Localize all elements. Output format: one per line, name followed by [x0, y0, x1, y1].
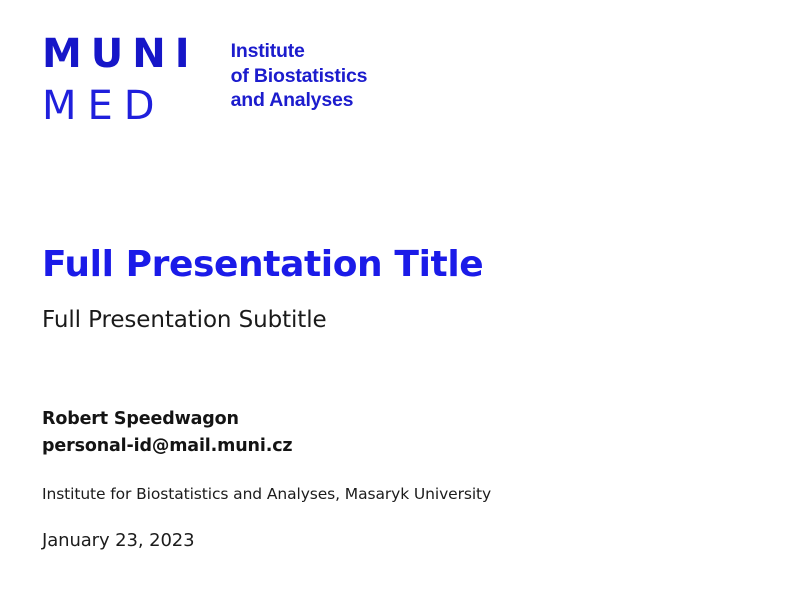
presentation-title: Full Presentation Title — [42, 245, 483, 285]
author-name: Robert Speedwagon — [42, 406, 292, 433]
muni-med-logo: MUNI MED Institute of Biostatistics and … — [42, 34, 367, 130]
author-email: personal-id@mail.muni.cz — [42, 433, 292, 460]
logo-wordmark: MUNI MED — [42, 34, 199, 130]
presentation-date: January 23, 2023 — [42, 529, 195, 552]
title-slide: MUNI MED Institute of Biostatistics and … — [0, 0, 794, 596]
logo-wordmark-med: MED — [42, 83, 199, 130]
logo-institute-name: Institute of Biostatistics and Analyses — [231, 39, 368, 113]
presentation-subtitle: Full Presentation Subtitle — [42, 307, 327, 335]
logo-institute-line-1: Institute — [231, 39, 368, 64]
logo-institute-line-2: of Biostatistics — [231, 64, 368, 89]
logo-institute-line-3: and Analyses — [231, 88, 368, 113]
author-affiliation: Institute for Biostatistics and Analyses… — [42, 484, 491, 504]
logo-wordmark-muni: MUNI — [42, 34, 199, 75]
author-block: Robert Speedwagon personal-id@mail.muni.… — [42, 406, 292, 459]
